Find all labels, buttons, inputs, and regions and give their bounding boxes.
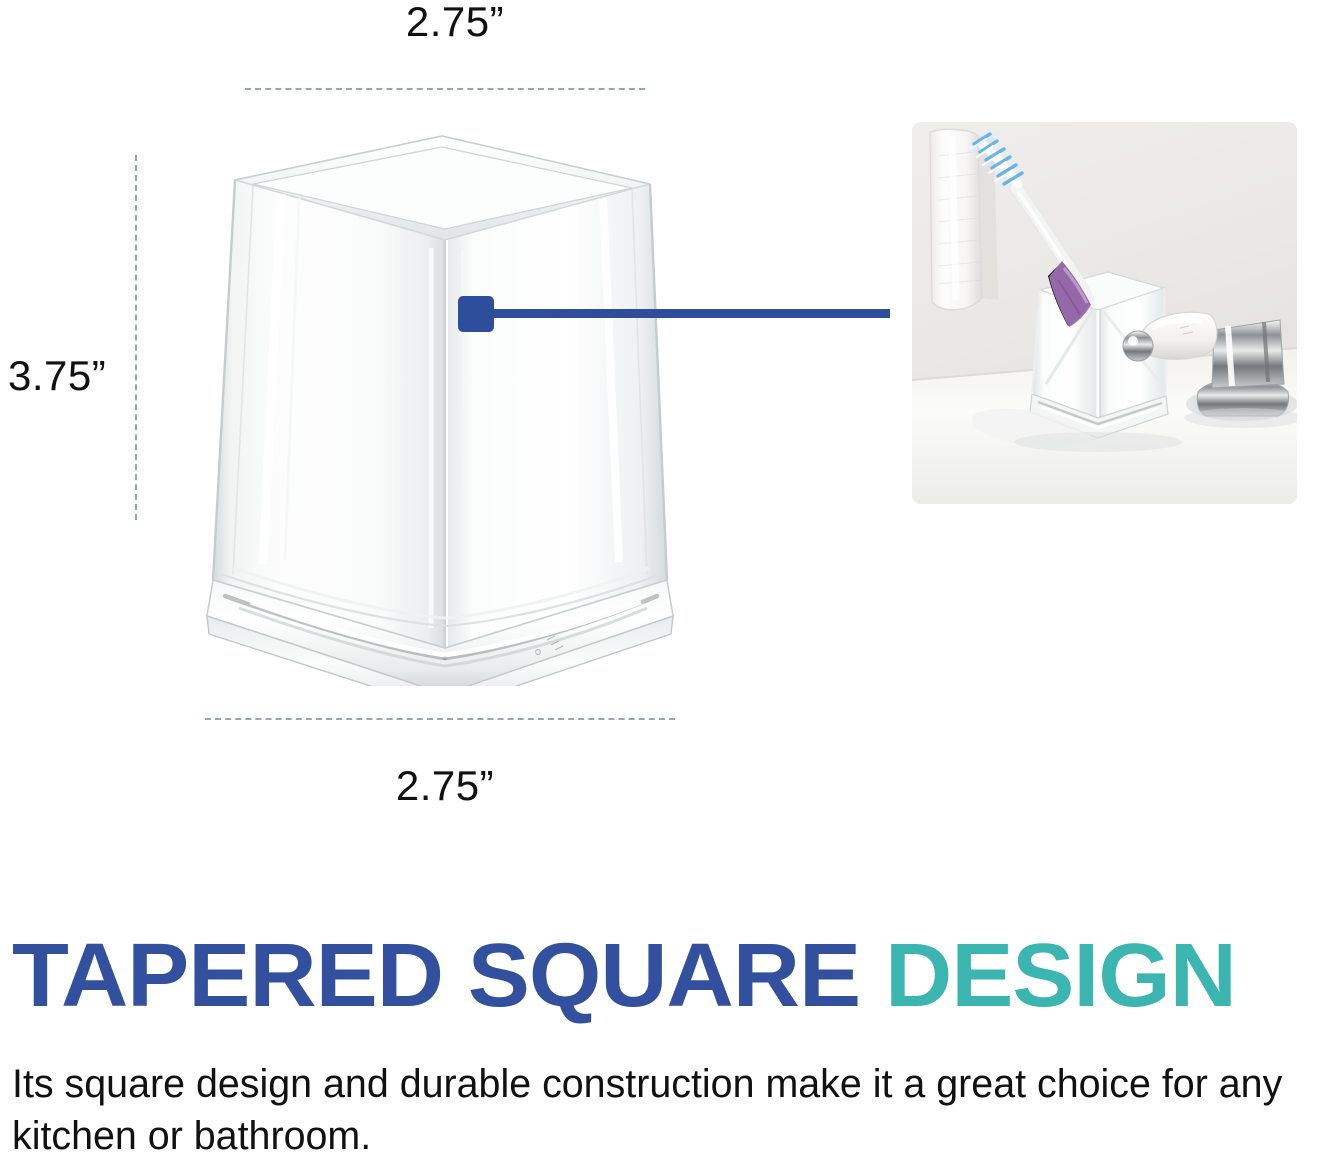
inset-lifestyle-photo xyxy=(912,122,1297,504)
dimension-label-width-bottom: 2.75” xyxy=(0,762,890,810)
headline-secondary-text: DESIGN xyxy=(885,926,1236,1026)
page-headline: TAPERED SQUARE DESIGN xyxy=(12,928,1335,1024)
headline-primary-text: TAPERED SQUARE xyxy=(12,926,860,1026)
dimension-label-height: 3.75” xyxy=(8,352,106,400)
dimension-label-width-top: 2.75” xyxy=(0,0,910,46)
dimension-guide-bottom xyxy=(205,718,675,720)
dimension-guide-left xyxy=(135,155,137,520)
dimension-guide-top xyxy=(245,88,645,90)
product-image-tumbler xyxy=(195,128,675,686)
inset-photo-frame xyxy=(890,100,1315,530)
callout-marker xyxy=(458,296,494,332)
infographic-canvas: 2.75” 3.75” 2.75” xyxy=(0,0,1335,1155)
callout-connector-line xyxy=(490,309,908,318)
page-body-text: Its square design and durable constructi… xyxy=(12,1058,1312,1155)
